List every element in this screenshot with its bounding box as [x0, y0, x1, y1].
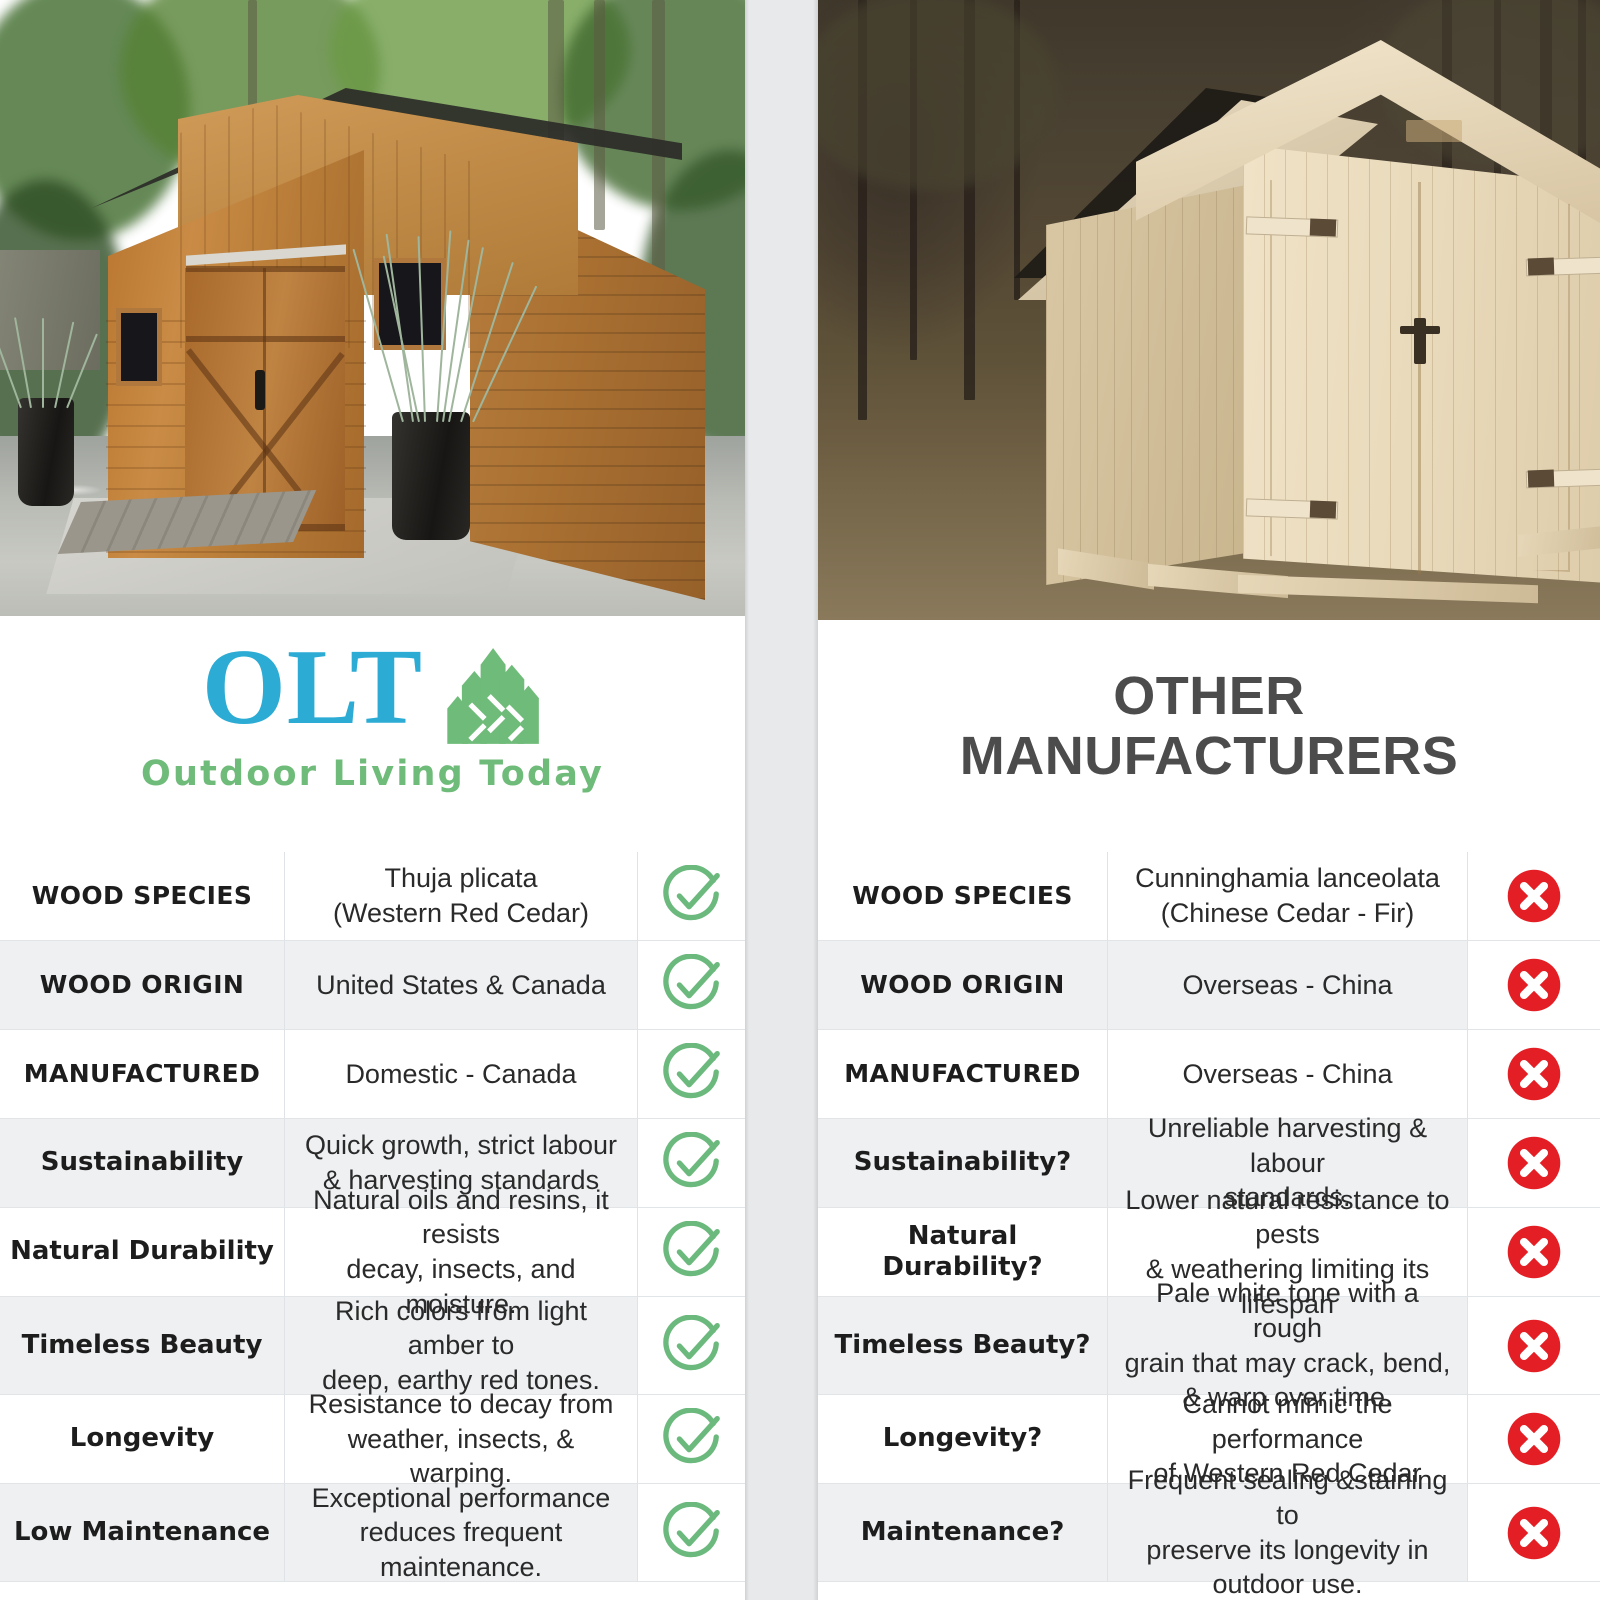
other-status-icon-cell: [1468, 1208, 1600, 1297]
other-feature-value: Cunninghamia lanceolata(Chinese Cedar - …: [1108, 852, 1468, 941]
close-x-icon: [1505, 1223, 1563, 1281]
olt-feature-label: Timeless Beauty: [0, 1297, 285, 1395]
olt-status-icon-cell: [638, 1030, 745, 1119]
table-row: Low MaintenanceExceptional performancere…: [0, 1484, 745, 1582]
olt-status-icon-cell: [638, 941, 745, 1030]
olt-feature-label: Natural Durability: [0, 1208, 285, 1297]
olt-feature-value: Rich colors from light amber todeep, ear…: [285, 1297, 638, 1395]
olt-status-icon-cell: [638, 1119, 745, 1208]
table-row: WOOD ORIGINUnited States & Canada: [0, 941, 745, 1030]
close-x-icon: [1505, 1045, 1563, 1103]
other-feature-label: Longevity?: [818, 1395, 1108, 1484]
other-feature-label: WOOD ORIGIN: [818, 941, 1108, 1030]
table-row: WOOD SPECIESThuja plicata(Western Red Ce…: [0, 852, 745, 941]
table-row: Natural DurabilityNatural oils and resin…: [0, 1208, 745, 1297]
other-status-icon-cell: [1468, 1119, 1600, 1208]
table-row: LongevityResistance to decay fromweather…: [0, 1395, 745, 1484]
other-status-icon-cell: [1468, 941, 1600, 1030]
table-row: MANUFACTUREDDomestic - Canada: [0, 1030, 745, 1119]
close-x-icon: [1505, 1134, 1563, 1192]
olt-shed-photo: [0, 0, 745, 616]
olt-feature-label: Low Maintenance: [0, 1484, 285, 1582]
close-x-icon: [1505, 867, 1563, 925]
other-feature-label: Maintenance?: [818, 1484, 1108, 1582]
olt-feature-value: Thuja plicata(Western Red Cedar): [285, 852, 638, 941]
table-row: WOOD ORIGINOverseas - China: [818, 941, 1600, 1030]
olt-logo-tagline: Outdoor Living Today: [141, 754, 604, 794]
olt-feature-value: United States & Canada: [285, 941, 638, 1030]
check-icon: [661, 1315, 723, 1377]
check-icon: [661, 954, 723, 1016]
check-icon: [661, 1408, 723, 1470]
other-feature-value: Overseas - China: [1108, 941, 1468, 1030]
check-icon: [661, 1132, 723, 1194]
other-status-icon-cell: [1468, 1030, 1600, 1119]
close-x-icon: [1505, 1317, 1563, 1375]
comparison-infographic: OLT: [0, 0, 1600, 1600]
olt-feature-label: Longevity: [0, 1395, 285, 1484]
olt-status-icon-cell: [638, 1208, 745, 1297]
table-row: MANUFACTUREDOverseas - China: [818, 1030, 1600, 1119]
olt-brand-header: OLT: [0, 616, 745, 852]
other-feature-value: Pale white tone with a roughgrain that m…: [1108, 1297, 1468, 1395]
other-status-icon-cell: [1468, 1484, 1600, 1582]
olt-logo-text: OLT: [202, 638, 423, 737]
other-feature-label: WOOD SPECIES: [818, 852, 1108, 941]
olt-feature-label: Sustainability: [0, 1119, 285, 1208]
olt-feature-label: WOOD ORIGIN: [0, 941, 285, 1030]
olt-feature-value: Natural oils and resins, it resistsdecay…: [285, 1208, 638, 1297]
other-status-icon-cell: [1468, 852, 1600, 941]
olt-feature-label: MANUFACTURED: [0, 1030, 285, 1119]
olt-feature-value: Domestic - Canada: [285, 1030, 638, 1119]
other-shed-photo: [818, 0, 1600, 620]
other-feature-value: Overseas - China: [1108, 1030, 1468, 1119]
olt-feature-value: Exceptional performancereduces frequent …: [285, 1484, 638, 1582]
olt-panel: OLT: [0, 0, 745, 1600]
other-feature-value: Frequent sealing &staining topreserve it…: [1108, 1484, 1468, 1582]
check-icon: [661, 865, 723, 927]
table-row: Timeless Beauty?Pale white tone with a r…: [818, 1297, 1600, 1395]
close-x-icon: [1505, 956, 1563, 1014]
olt-tree-logo-icon: [439, 644, 543, 748]
close-x-icon: [1505, 1410, 1563, 1468]
other-manufacturers-panel: OTHERMANUFACTURERS WOOD SPECIESCunningha…: [818, 0, 1600, 1600]
olt-status-icon-cell: [638, 852, 745, 941]
olt-feature-label: WOOD SPECIES: [0, 852, 285, 941]
other-status-icon-cell: [1468, 1395, 1600, 1484]
olt-feature-value: Resistance to decay fromweather, insects…: [285, 1395, 638, 1484]
panel-divider: [745, 0, 818, 1600]
other-status-icon-cell: [1468, 1297, 1600, 1395]
check-icon: [661, 1221, 723, 1283]
olt-status-icon-cell: [638, 1484, 745, 1582]
other-brand-header: OTHERMANUFACTURERS: [818, 620, 1600, 852]
other-feature-label: Timeless Beauty?: [818, 1297, 1108, 1395]
check-icon: [661, 1502, 723, 1564]
other-feature-label: MANUFACTURED: [818, 1030, 1108, 1119]
table-row: Timeless BeautyRich colors from light am…: [0, 1297, 745, 1395]
other-comparison-table: WOOD SPECIESCunninghamia lanceolata(Chin…: [818, 852, 1600, 1582]
olt-status-icon-cell: [638, 1395, 745, 1484]
other-feature-label: Sustainability?: [818, 1119, 1108, 1208]
other-manufacturers-title: OTHERMANUFACTURERS: [818, 666, 1600, 787]
table-row: WOOD SPECIESCunninghamia lanceolata(Chin…: [818, 852, 1600, 941]
table-row: Maintenance?Frequent sealing &staining t…: [818, 1484, 1600, 1582]
olt-comparison-table: WOOD SPECIESThuja plicata(Western Red Ce…: [0, 852, 745, 1582]
olt-status-icon-cell: [638, 1297, 745, 1395]
other-feature-label: Natural Durability?: [818, 1208, 1108, 1297]
close-x-icon: [1505, 1504, 1563, 1562]
check-icon: [661, 1043, 723, 1105]
